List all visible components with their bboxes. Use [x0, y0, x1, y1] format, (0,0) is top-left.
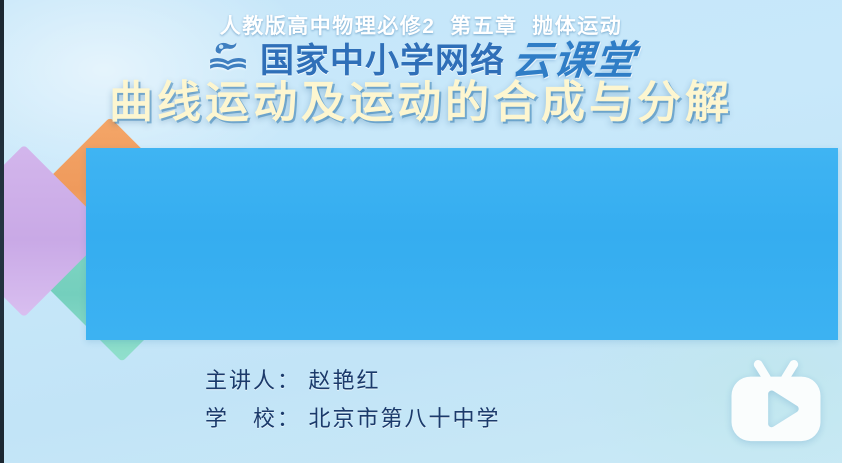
course-subtitle: 人教版高中物理必修2 第五章 抛体运动 — [0, 10, 842, 40]
presenter-info: 主讲人： 赵艳红 学 校： 北京市第八十中学 — [205, 362, 501, 438]
course-title-slide: 国家中小学网络 云课堂 人教版高中物理必修2 第五章 抛体运动 曲线运动及运动的… — [0, 0, 842, 463]
presenter-line-name: 主讲人： 赵艳红 — [205, 362, 501, 400]
title-banner — [86, 148, 838, 340]
left-edge-strip — [0, 0, 4, 463]
presenter-line-school: 学 校： 北京市第八十中学 — [205, 400, 501, 438]
course-title: 曲线运动及运动的合成与分解 — [0, 66, 842, 130]
tv-play-icon — [728, 357, 824, 445]
